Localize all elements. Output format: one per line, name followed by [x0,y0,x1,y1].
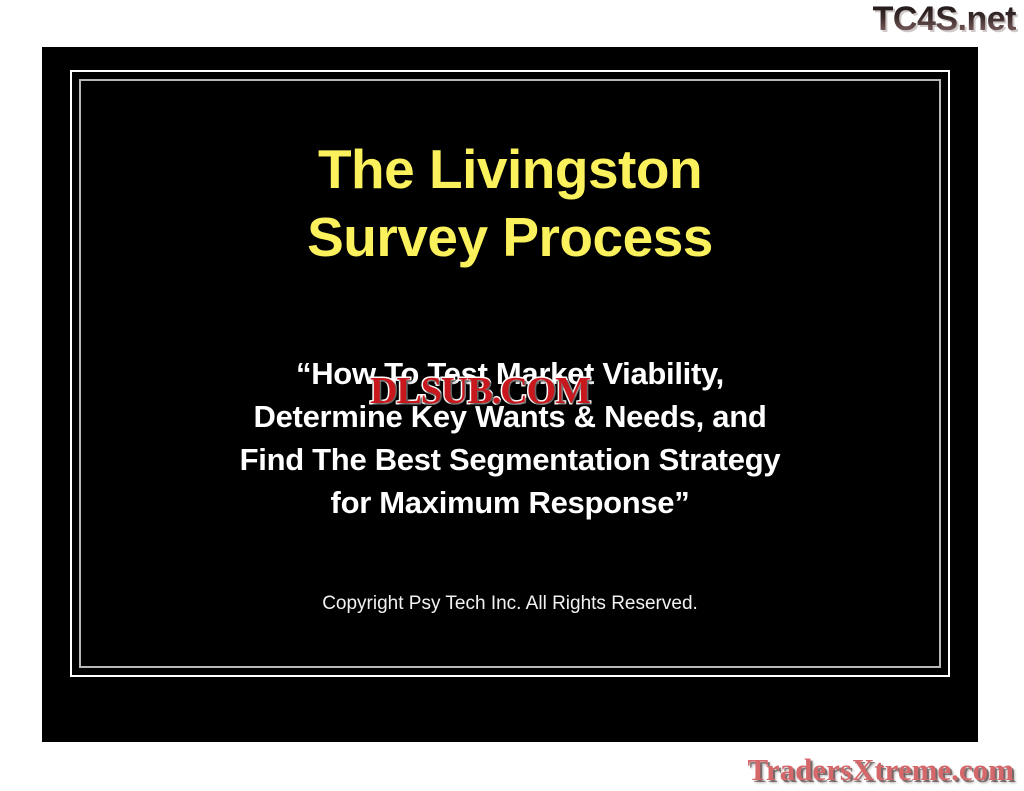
bottom-logo-tradersxtreme: TradersXtreme.com [747,754,1014,785]
slide-content: The Livingston Survey Process “How To Te… [42,47,978,742]
top-logo-tc4s: TC4S.net [873,2,1016,36]
dlsub-watermark-stamp: DLSUB.COM [370,372,590,410]
slide-title: The Livingston Survey Process [42,135,978,271]
slide-copyright: Copyright Psy Tech Inc. All Rights Reser… [42,592,978,616]
slide-subtitle-line-3: Find The Best Segmentation Strategy [102,438,918,481]
slide-panel: The Livingston Survey Process “How To Te… [42,47,978,742]
slide-title-line-2: Survey Process [42,203,978,271]
slide-title-line-1: The Livingston [42,135,978,203]
slide-subtitle-line-4: for Maximum Response” [102,481,918,524]
